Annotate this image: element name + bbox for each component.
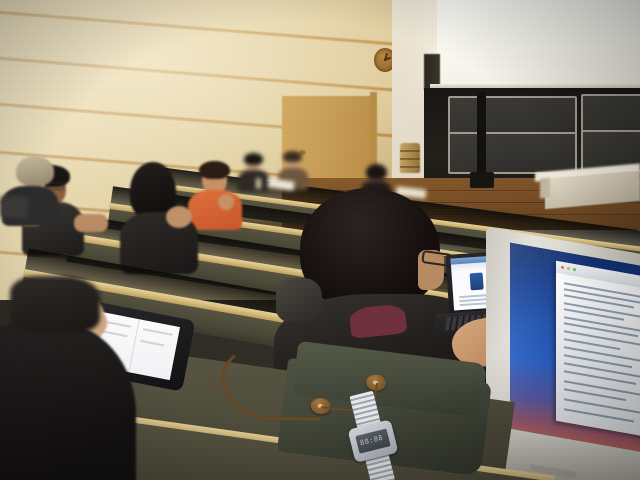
projection-screen (437, 0, 640, 88)
blackboard-panel (448, 132, 577, 174)
bag-on-desk-far (0, 196, 28, 218)
arm (74, 214, 108, 232)
microphone-stand-base (470, 172, 494, 188)
microphone-stand-pole (477, 92, 486, 182)
hand-to-chin (218, 194, 234, 210)
water-bottle (256, 178, 261, 189)
shoulder (10, 276, 100, 332)
page-thumbnail-icon (470, 272, 484, 290)
silver-macbook[interactable] (486, 242, 640, 480)
hand (166, 206, 192, 228)
lectern-leg (540, 178, 550, 199)
lecture-hall-photo: 88:88 (0, 0, 640, 480)
